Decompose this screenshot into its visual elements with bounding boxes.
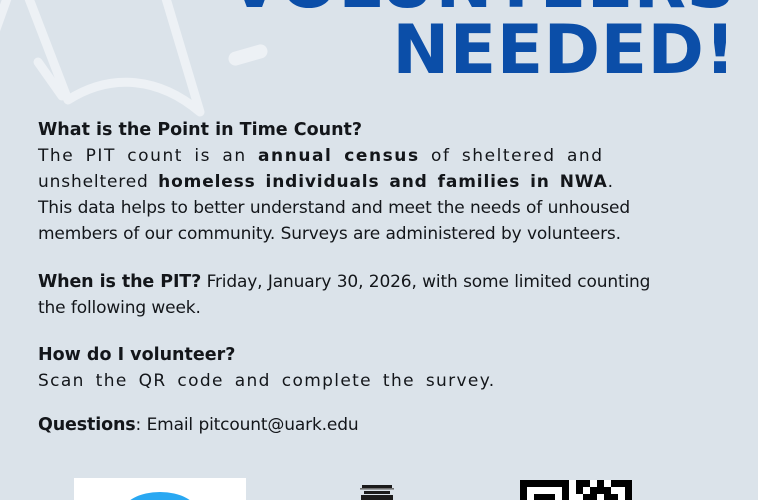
when-is-pit-line-2: the following week. — [38, 295, 686, 321]
qr-module-1-15 — [625, 487, 632, 494]
qr-module-2-3 — [541, 494, 548, 500]
qr-module-2-9 — [583, 494, 590, 500]
section-how-to-volunteer: How do I volunteer? Scan the QR code and… — [38, 343, 686, 394]
what-line2-emphasis: homeless individuals and families in NWA — [158, 172, 608, 192]
partner-logo-card — [74, 478, 246, 500]
qr-module-0-8 — [576, 480, 583, 487]
what-line1-emphasis: annual census — [258, 146, 420, 166]
qr-module-0-3 — [541, 480, 548, 487]
what-line1-part-c: of sheltered and — [420, 146, 604, 166]
poster-body: What is the Point in Time Count? The PIT… — [38, 118, 686, 438]
qr-module-0-10 — [590, 480, 597, 487]
qr-module-2-12 — [604, 494, 611, 500]
what-line2-part-c: . — [608, 172, 614, 192]
qr-module-1-9 — [583, 487, 590, 494]
qr-module-0-12 — [604, 480, 611, 487]
qr-module-1-6 — [562, 487, 569, 494]
heading-line-needed: NEEDED! — [0, 18, 736, 84]
what-line2-part-a: unsheltered — [38, 172, 158, 192]
what-is-pit-line-3: This data helps to better understand and… — [38, 195, 686, 221]
spacer-after-how — [38, 394, 686, 412]
qr-module-1-12 — [604, 487, 611, 494]
questions-heading: Questions — [38, 415, 136, 435]
qr-module-grid — [520, 480, 632, 500]
qr-module-1-13 — [611, 487, 618, 494]
questions-line: Questions: Email pitcount@uark.edu — [38, 412, 686, 438]
qr-module-1-14 — [618, 487, 625, 494]
survey-qr-code[interactable] — [520, 480, 632, 500]
qr-module-0-2 — [534, 480, 541, 487]
qr-module-1-8 — [576, 487, 583, 494]
qr-module-2-14 — [618, 494, 625, 500]
qr-module-0-15 — [625, 480, 632, 487]
when-is-pit-heading: When is the PIT? — [38, 272, 201, 292]
qr-module-1-10 — [590, 487, 597, 494]
poster-canvas: VOLUNTEERS NEEDED! What is the Point in … — [0, 0, 758, 500]
spacer-after-when — [38, 321, 686, 343]
qr-module-0-7 — [569, 480, 576, 487]
what-is-pit-line-4: members of our community. Surveys are ad… — [38, 221, 686, 247]
partner-logo-swoosh-icon — [123, 492, 197, 500]
what-is-pit-line-2: unsheltered homeless individuals and fam… — [38, 169, 686, 195]
qr-module-1-3 — [541, 487, 548, 494]
poster-heading: VOLUNTEERS NEEDED! — [0, 0, 736, 84]
qr-module-1-11 — [597, 487, 604, 494]
how-to-volunteer-line-1: Scan the QR code and complete the survey… — [38, 368, 686, 394]
spacer-after-what — [38, 247, 686, 269]
what-is-pit-heading: What is the Point in Time Count? — [38, 118, 686, 143]
qr-module-0-13 — [611, 480, 618, 487]
qr-module-1-1 — [527, 487, 534, 494]
questions-email: : Email pitcount@uark.edu — [136, 415, 359, 435]
qr-module-2-15 — [625, 494, 632, 500]
qr-module-2-8 — [576, 494, 583, 500]
qr-module-1-4 — [548, 487, 555, 494]
what-line1-part-a: The PIT count is an — [38, 146, 258, 166]
when-is-pit-detail: Friday, January 30, 2026, with some limi… — [201, 272, 650, 292]
qr-module-1-5 — [555, 487, 562, 494]
qr-module-2-6 — [562, 494, 569, 500]
qr-module-2-5 — [555, 494, 562, 500]
qr-module-0-1 — [527, 480, 534, 487]
qr-module-1-0 — [520, 487, 527, 494]
qr-module-0-11 — [597, 480, 604, 487]
qr-module-2-11 — [597, 494, 604, 500]
qr-module-2-7 — [569, 494, 576, 500]
qr-module-0-0 — [520, 480, 527, 487]
university-building-mark-icon — [360, 484, 394, 500]
poster-footer — [0, 476, 758, 500]
section-when-is-pit: When is the PIT? Friday, January 30, 202… — [38, 269, 686, 321]
qr-module-2-1 — [527, 494, 534, 500]
qr-module-0-5 — [555, 480, 562, 487]
qr-module-1-7 — [569, 487, 576, 494]
qr-module-2-10 — [590, 494, 597, 500]
what-is-pit-line-1: The PIT count is an annual census of she… — [38, 143, 686, 169]
qr-module-0-4 — [548, 480, 555, 487]
qr-module-0-14 — [618, 480, 625, 487]
qr-module-2-13 — [611, 494, 618, 500]
how-to-volunteer-heading: How do I volunteer? — [38, 343, 686, 368]
qr-module-2-4 — [548, 494, 555, 500]
when-is-pit-line-1: When is the PIT? Friday, January 30, 202… — [38, 269, 686, 295]
qr-module-2-2 — [534, 494, 541, 500]
qr-module-0-9 — [583, 480, 590, 487]
qr-module-2-0 — [520, 494, 527, 500]
qr-module-0-6 — [562, 480, 569, 487]
section-what-is-pit: What is the Point in Time Count? The PIT… — [38, 118, 686, 247]
qr-module-1-2 — [534, 487, 541, 494]
section-questions: Questions: Email pitcount@uark.edu — [38, 412, 686, 438]
